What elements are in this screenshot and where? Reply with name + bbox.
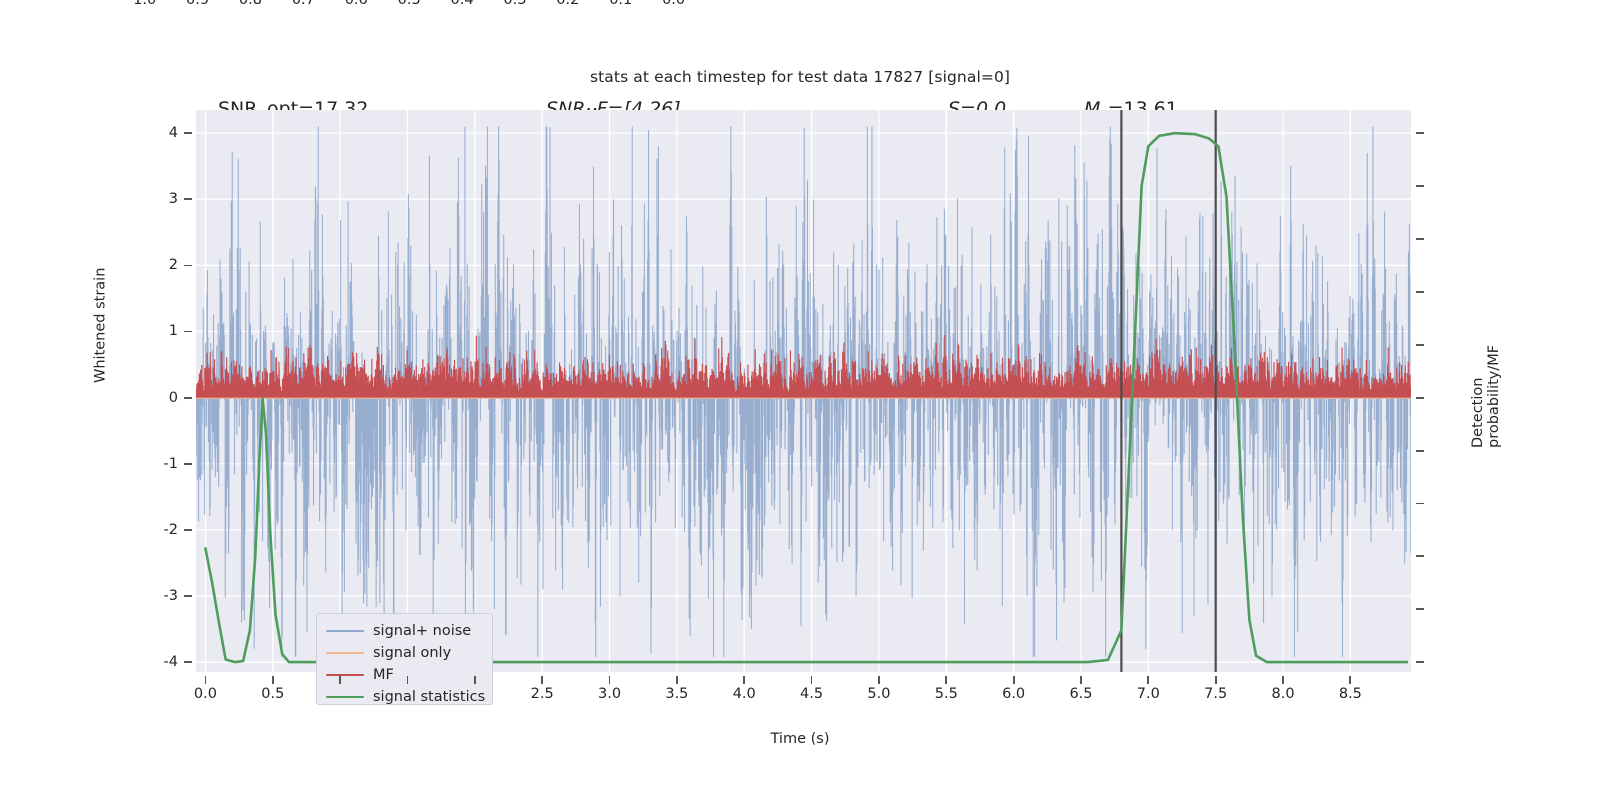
y-right-tick-mark [1416,503,1424,505]
y-left-tick-mark [184,265,192,267]
legend-color-swatch [326,696,364,699]
x-tick-mark [609,676,611,684]
y-right-tick-mark [1416,238,1424,240]
x-axis-label: Time (s) [0,731,1600,747]
x-tick-label: 8.0 [1272,686,1295,702]
undefined: 0.1 [609,0,632,8]
x-tick-label: 2.5 [531,686,554,702]
y-left-tick-label: 2 [169,257,178,273]
x-tick-label: 7.5 [1204,686,1227,702]
x-tick-mark [1215,676,1217,684]
undefined: 0.8 [239,0,262,8]
x-tick-mark [407,676,409,684]
y-axis-left-label: Whitened strain [92,268,108,383]
y-left-tick-label: 3 [169,191,178,207]
x-tick-mark [945,676,947,684]
y-left-tick-mark [184,397,192,399]
undefined: 0.3 [503,0,526,8]
y-right-tick-mark [1416,344,1424,346]
page-title: stats at each timestep for test data 178… [0,68,1600,86]
x-tick-mark [205,676,207,684]
legend-item[interactable]: signal+ noise [326,620,471,642]
x-tick-label: 6.5 [1069,686,1092,702]
x-tick-mark [272,676,274,684]
y-left-tick-mark [184,331,192,333]
y-right-tick-mark [1416,555,1424,557]
legend-item[interactable]: signal statistics [326,686,485,708]
plot-svg [196,110,1411,672]
y-left-tick-label: 1 [169,323,178,339]
legend[interactable]: signal+ noisesignal onlyMFsignal statist… [316,613,493,705]
y-left-tick-label: -1 [164,456,178,472]
x-tick-mark [1349,676,1351,684]
x-tick-label: 5.5 [935,686,958,702]
legend-label: signal+ noise [373,623,471,639]
legend-color-swatch [326,674,364,677]
x-tick-label: 3.0 [598,686,621,702]
y-left-tick-label: -3 [164,588,178,604]
undefined: 0.4 [451,0,474,8]
x-tick-mark [474,676,476,684]
x-tick-label: 7.0 [1137,686,1160,702]
undefined: 0.0 [662,0,685,8]
y-axis-right-label: Detection probability/MF [1470,334,1502,448]
undefined: 0.7 [292,0,315,8]
x-tick-label: 0.0 [194,686,217,702]
y-left-tick-label: 0 [169,390,178,406]
y-right-tick-mark [1416,185,1424,187]
y-left-tick-label: -4 [164,654,178,670]
x-tick-mark [541,676,543,684]
x-tick-mark [1282,676,1284,684]
legend-label: signal only [373,645,451,661]
undefined: 0.2 [556,0,579,8]
y-right-tick-mark [1416,661,1424,663]
x-tick-label: 0.5 [261,686,284,702]
y-left-tick-label: -2 [164,522,178,538]
figure-canvas: stats at each timestep for test data 178… [0,0,1600,800]
undefined: 0.6 [345,0,368,8]
x-tick-label: 4.5 [800,686,823,702]
y-left-tick-mark [184,529,192,531]
y-left-tick-label: 4 [169,125,178,141]
y-left-tick-mark [184,463,192,465]
undefined: 1.0 [133,0,156,8]
y-right-tick-mark [1416,132,1424,134]
x-tick-mark [1013,676,1015,684]
undefined: 0.9 [186,0,209,8]
x-tick-label: 4.0 [733,686,756,702]
legend-color-swatch [326,630,364,633]
x-tick-mark [1080,676,1082,684]
y-left-tick-mark [184,132,192,134]
x-tick-mark [811,676,813,684]
y-left-tick-mark [184,595,192,597]
x-tick-mark [743,676,745,684]
y-left-tick-mark [184,661,192,663]
y-right-tick-mark [1416,450,1424,452]
x-tick-label: 3.5 [665,686,688,702]
x-tick-mark [1147,676,1149,684]
legend-item[interactable]: signal only [326,642,451,664]
x-tick-label: 5.0 [867,686,890,702]
y-left-tick-mark [184,198,192,200]
y-right-tick-mark [1416,291,1424,293]
legend-color-swatch [326,652,364,655]
x-tick-mark [878,676,880,684]
x-tick-label: 6.0 [1002,686,1025,702]
legend-label: MF [373,667,394,683]
y-right-tick-mark [1416,608,1424,610]
undefined: 0.5 [398,0,421,8]
x-tick-mark [339,676,341,684]
y-right-tick-mark [1416,397,1424,399]
x-tick-mark [676,676,678,684]
legend-label: signal statistics [373,689,485,705]
plot-area[interactable] [196,110,1411,672]
legend-item[interactable]: MF [326,664,394,686]
x-tick-label: 8.5 [1339,686,1362,702]
